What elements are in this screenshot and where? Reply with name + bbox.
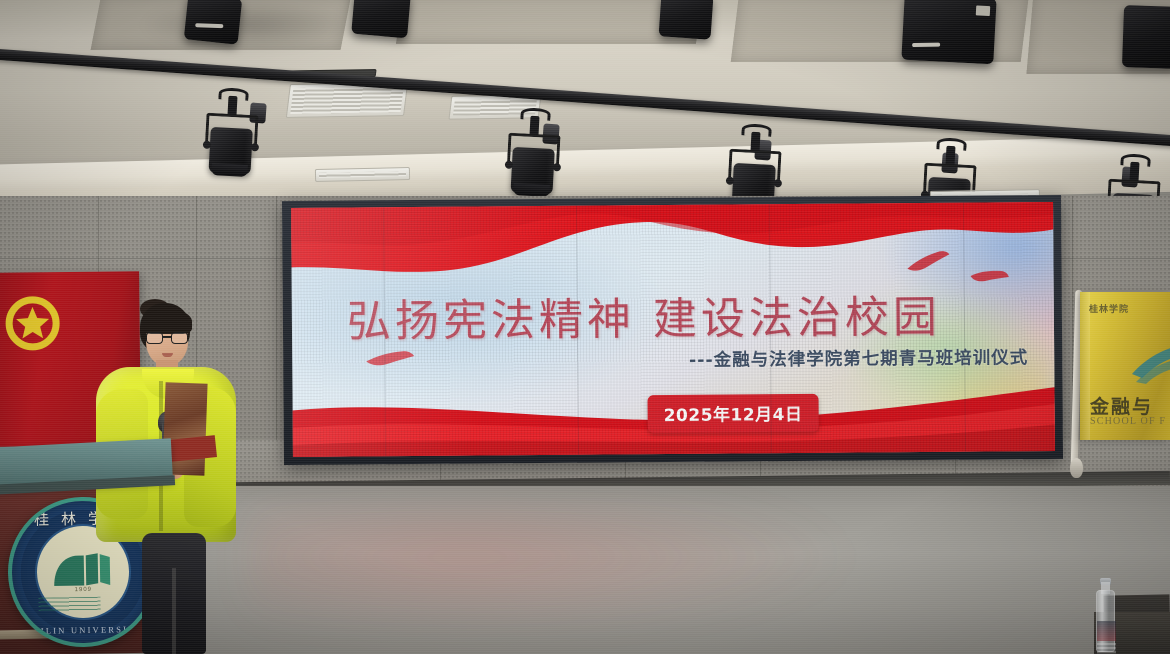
leg-gap [172,568,176,654]
red-wave-top [291,202,1055,293]
ceiling-recess [396,0,704,44]
ceiling-light-icon [901,0,996,64]
bird-icon [364,349,416,369]
banner-logo-text: 桂林学院 [1089,302,1129,315]
stage-light-icon [202,111,259,178]
bottle-label [1097,621,1116,641]
floor-light-glow [250,505,870,635]
ac-vent-icon [315,167,410,182]
stage-light-icon [504,131,561,198]
slide-date-badge: 2025年12月4日 [648,394,819,433]
led-screen-frame: 弘扬宪法精神 建设法治校园 ---金融与法律学院第七期青马班培训仪式 2025年… [282,195,1063,465]
ceiling-shadow [140,0,360,50]
banner-finial [1070,458,1083,478]
ceiling-light-icon [659,0,714,40]
star-icon [14,305,50,341]
school-banner: 桂林学院 金融与 SCHOOL OF F [1080,292,1170,440]
eyeglasses-icon [146,332,188,344]
swoosh-icon [1128,340,1170,384]
water-bottle [1096,578,1115,652]
bottle-ribs [1097,643,1116,654]
auditorium-scene: 弘扬宪法精神 建设法治校园 ---金融与法律学院第七期青马班培训仪式 2025年… [0,0,1170,654]
hair-front [142,309,192,334]
slide-subtitle: ---金融与法律学院第七期青马班培训仪式 [689,344,1028,372]
slide-main-title: 弘扬宪法精神 建设法治校园 [347,280,1017,349]
led-screen: 弘扬宪法精神 建设法治校园 ---金融与法律学院第七期青马班培训仪式 2025年… [291,202,1055,457]
ceiling-light-icon [351,0,411,38]
ceiling-light-icon [1122,5,1170,69]
banner-en-text: SCHOOL OF F [1090,416,1166,427]
ceiling-light-icon [184,0,243,45]
banner-cn-text: 金融与 [1090,392,1153,419]
bottle-body [1096,590,1115,652]
